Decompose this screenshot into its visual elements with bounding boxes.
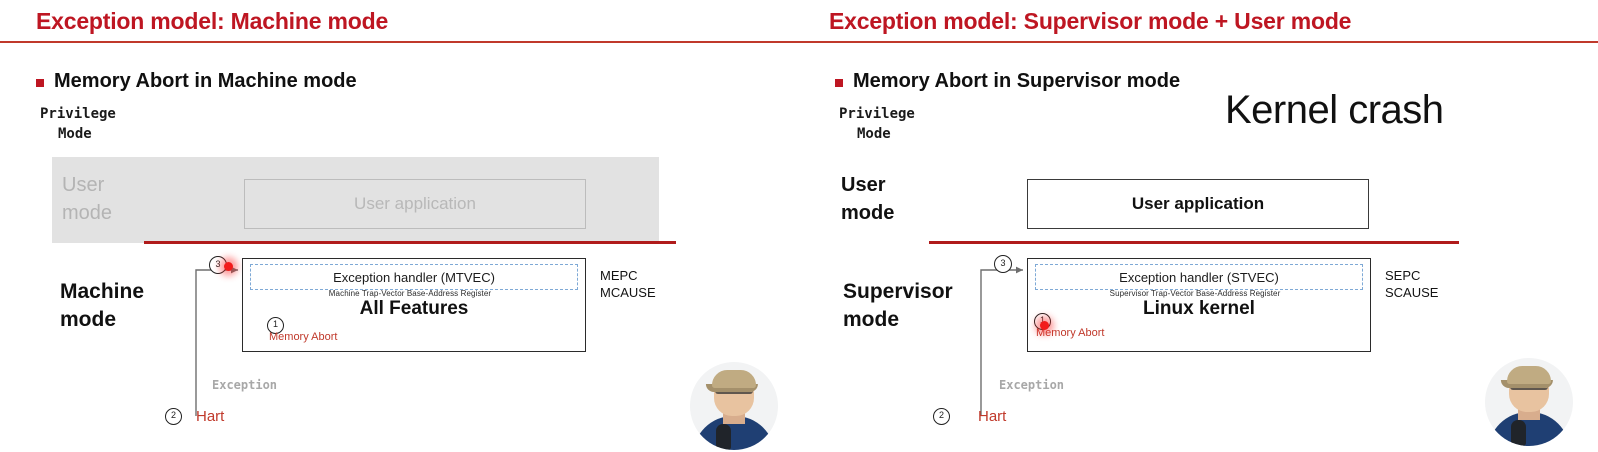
- privileged-mode-line2: mode: [843, 306, 953, 334]
- privilege-axis-line2: Mode: [857, 124, 915, 144]
- laser-pointer-dot: [1040, 321, 1049, 330]
- user-mode-line1: User: [62, 174, 104, 196]
- hart-label: Hart: [196, 408, 224, 425]
- privilege-boundary-line: [929, 241, 1459, 244]
- user-application-box: User application: [1027, 179, 1369, 229]
- bullet-heading: Memory Abort in Supervisor mode: [835, 70, 1180, 93]
- privilege-axis-line1: Privilege: [40, 106, 116, 122]
- exception-handler-label: Exception handler (MTVEC): [250, 264, 578, 290]
- bullet-heading: Memory Abort in Machine mode: [36, 70, 357, 93]
- bullet-heading-label: Memory Abort in Supervisor mode: [853, 70, 1180, 93]
- user-mode-label: User mode: [62, 171, 182, 227]
- square-bullet-icon: [835, 79, 843, 87]
- exception-flow-label: Exception: [999, 378, 1064, 392]
- user-mode-line1: User: [841, 174, 885, 196]
- slide-title: Exception model: Machine mode: [36, 8, 388, 35]
- cap-icon: [1507, 366, 1551, 384]
- handler-main-label: All Features: [243, 298, 585, 320]
- laser-pointer-dot: [224, 262, 233, 271]
- handler-main-label: Linux kernel: [1028, 298, 1370, 320]
- presenter-webcam-overlay: [1485, 358, 1573, 446]
- presenter-webcam-overlay: [690, 362, 778, 450]
- square-bullet-icon: [36, 79, 44, 87]
- user-mode-line2: mode: [62, 199, 182, 227]
- privilege-boundary-line: [144, 241, 676, 244]
- step-marker-3: 3: [994, 255, 1012, 273]
- slide-title: Exception model: Supervisor mode + User …: [829, 8, 1351, 35]
- microphone-icon: [716, 424, 731, 450]
- memory-abort-label: Memory Abort: [269, 331, 337, 343]
- step-marker-2: 2: [933, 408, 950, 425]
- privileged-mode-label: Machine mode: [60, 278, 144, 334]
- csr-epc-label: SEPC: [1385, 267, 1438, 284]
- machine-mode-handler-box: Exception handler (MTVEC) Machine Trap-V…: [242, 258, 586, 352]
- csr-register-labels: MEPC MCAUSE: [600, 267, 656, 301]
- bullet-heading-label: Memory Abort in Machine mode: [54, 70, 357, 93]
- user-mode-band: User mode User application: [52, 157, 659, 243]
- csr-register-labels: SEPC SCAUSE: [1385, 267, 1438, 301]
- privilege-mode-axis-label: Privilege Mode: [40, 104, 116, 144]
- hart-row: 2 Hart: [165, 408, 224, 425]
- privileged-mode-line1: Machine: [60, 280, 144, 303]
- exception-handler-subtitle: Machine Trap-Vector Base-Address Registe…: [243, 289, 577, 298]
- slide-comparison-stage: Exception model: Machine mode Memory Abo…: [0, 0, 1598, 452]
- privileged-mode-label: Supervisor mode: [843, 278, 953, 334]
- exception-handler-subtitle: Supervisor Trap-Vector Base-Address Regi…: [1028, 289, 1362, 298]
- csr-cause-label: SCAUSE: [1385, 284, 1438, 301]
- exception-handler-label: Exception handler (STVEC): [1035, 264, 1363, 290]
- slide-machine-mode: Exception model: Machine mode Memory Abo…: [0, 0, 799, 452]
- microphone-icon: [1511, 420, 1526, 446]
- privileged-mode-line2: mode: [60, 306, 144, 334]
- cap-icon: [712, 370, 756, 388]
- privileged-mode-line1: Supervisor: [843, 280, 953, 303]
- user-application-box: User application: [244, 179, 586, 229]
- privilege-axis-line2: Mode: [58, 124, 116, 144]
- kernel-crash-annotation: Kernel crash: [1225, 88, 1444, 133]
- title-divider-rule: [799, 41, 1598, 43]
- hart-label: Hart: [978, 408, 1006, 425]
- privilege-axis-line1: Privilege: [839, 106, 915, 122]
- supervisor-mode-handler-box: Exception handler (STVEC) Supervisor Tra…: [1027, 258, 1371, 352]
- privilege-mode-axis-label: Privilege Mode: [839, 104, 915, 144]
- step-marker-2: 2: [165, 408, 182, 425]
- user-mode-line2: mode: [841, 199, 961, 227]
- slide-supervisor-user-mode: Exception model: Supervisor mode + User …: [799, 0, 1598, 452]
- user-mode-label: User mode: [841, 171, 961, 227]
- title-divider-rule: [0, 41, 799, 43]
- user-mode-band: User mode User application: [829, 157, 1469, 243]
- csr-epc-label: MEPC: [600, 267, 656, 284]
- exception-flow-label: Exception: [212, 378, 277, 392]
- csr-cause-label: MCAUSE: [600, 284, 656, 301]
- hart-row: 2 Hart: [933, 408, 1006, 425]
